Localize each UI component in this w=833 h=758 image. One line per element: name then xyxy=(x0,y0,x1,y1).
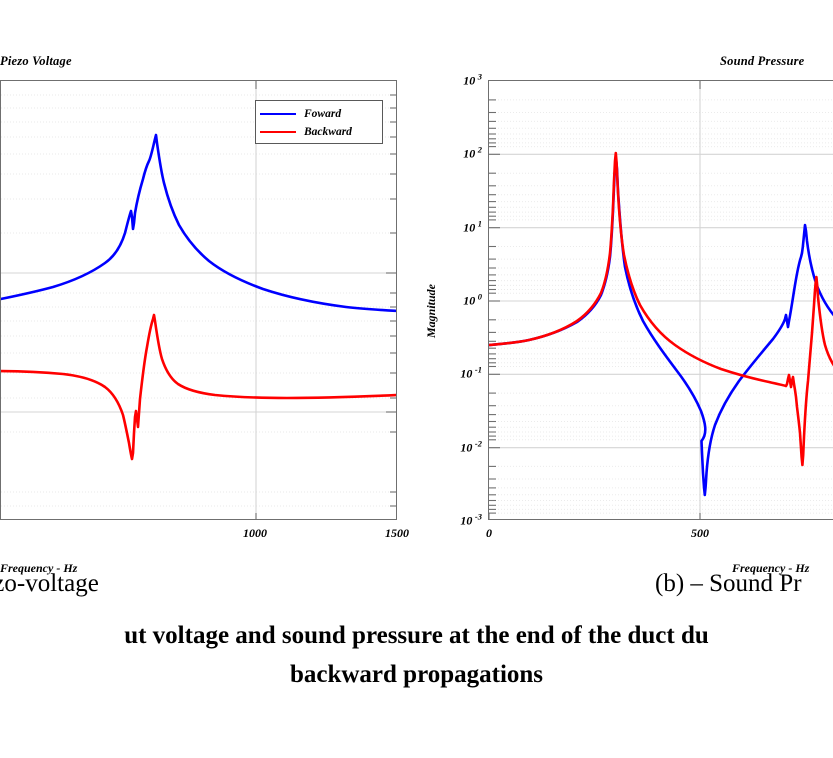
ytick-label-10e-2: 10-2 xyxy=(426,438,482,455)
legend-item-foward: Foward xyxy=(260,105,376,123)
series-curve-foward-right xyxy=(489,159,833,495)
figure-caption-line-1: ut voltage and sound pressure at the end… xyxy=(0,622,833,650)
chart-panel-sound-pressure: Sound Pressure xyxy=(420,48,833,518)
left-edge-ticks-right xyxy=(489,100,500,513)
legend-item-backward: Backward xyxy=(260,123,376,141)
plot-svg-piezo-voltage xyxy=(1,81,397,520)
legend-swatch-backward xyxy=(260,131,296,133)
figure-page: Piezo Voltage xyxy=(0,0,833,758)
legend-piezo-voltage: Foward Backward xyxy=(255,100,383,144)
legend-swatch-foward xyxy=(260,113,296,115)
minor-gridlines-right xyxy=(489,100,833,513)
yaxis-label-magnitude: Magnitude xyxy=(424,284,439,338)
ytick-label-10e-3: 10-3 xyxy=(426,512,482,529)
ytick-label-10e2: 102 xyxy=(430,145,482,162)
xtick-label-1500-left: 1500 xyxy=(385,526,409,541)
ytick-label-10e-1: 10-1 xyxy=(426,365,482,382)
chart-panel-piezo-voltage: Piezo Voltage xyxy=(0,48,400,518)
panel-title-piezo-voltage: Piezo Voltage xyxy=(0,54,72,69)
ytick-label-10e1: 101 xyxy=(430,218,482,235)
ytick-label-10e3: 103 xyxy=(430,72,482,89)
plot-area-sound-pressure xyxy=(488,80,833,520)
xtick-label-500-right: 500 xyxy=(691,526,709,541)
series-curve-backward-left xyxy=(1,315,397,459)
right-edge-ticks-left xyxy=(386,95,397,506)
series-curve-backward-right xyxy=(489,153,833,465)
xtick-label-0-right: 0 xyxy=(486,526,492,541)
xtick-label-1000-left: 1000 xyxy=(243,526,267,541)
plot-svg-sound-pressure xyxy=(489,81,833,520)
subcaption-b: (b) – Sound Pr xyxy=(655,570,802,598)
legend-label-backward: Backward xyxy=(304,126,352,138)
series-curve-foward-left xyxy=(1,135,397,311)
legend-label-foward: Foward xyxy=(304,108,341,120)
subcaption-a: – piezo-voltage xyxy=(0,570,99,598)
panel-title-sound-pressure: Sound Pressure xyxy=(720,54,804,69)
plot-area-piezo-voltage xyxy=(0,80,397,520)
minor-gridlines-left xyxy=(1,95,397,520)
figure-caption-line-2: backward propagations xyxy=(0,661,833,689)
major-gridlines-left xyxy=(1,81,397,520)
